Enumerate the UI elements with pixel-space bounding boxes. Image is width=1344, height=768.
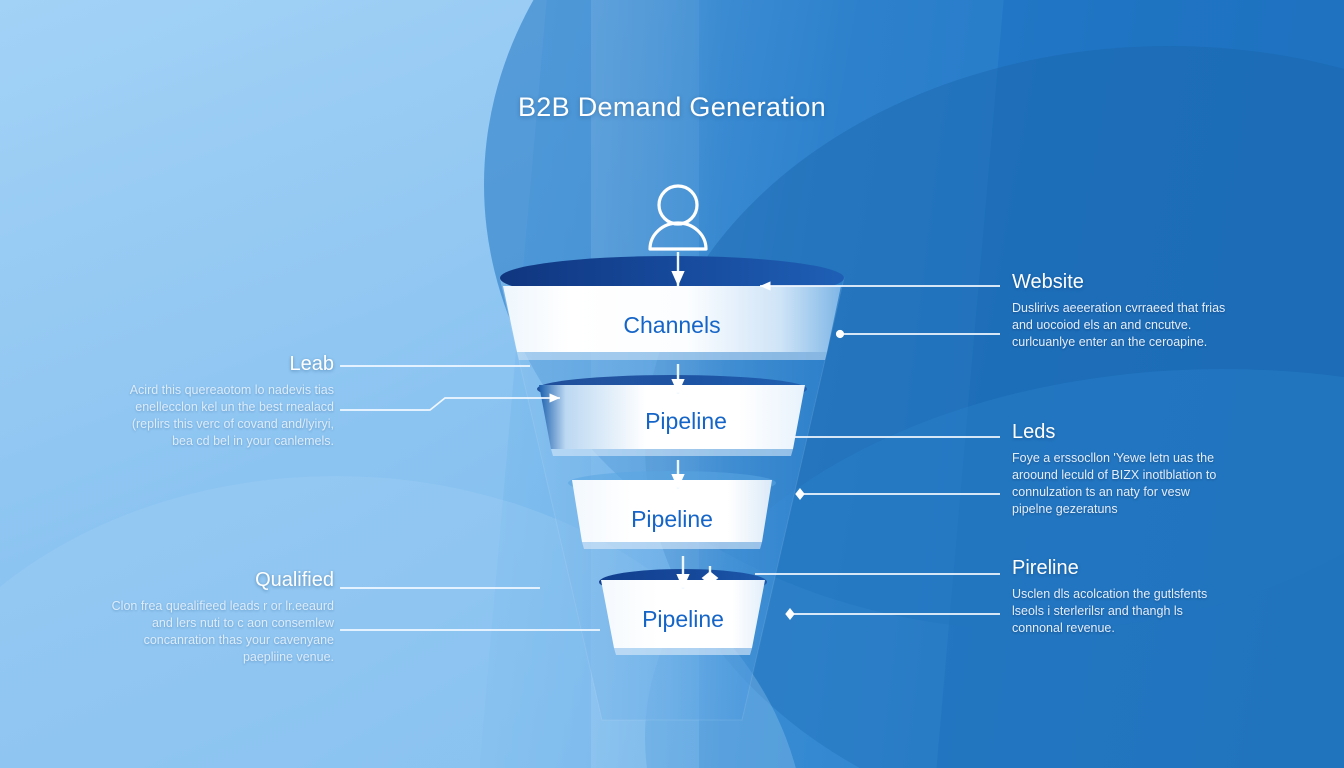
annotation-line: pipelne gezeratuns [1012, 501, 1262, 518]
annotation-line: connonal revenue. [1012, 620, 1262, 637]
annotation-line: Clon frea quealifieed leads r or lr.eeau… [72, 598, 334, 615]
annotation-leab-body: Acird this quereaotom lo nadevis tias en… [78, 382, 334, 450]
annotation-leds-heading: Leds [1012, 420, 1262, 444]
annotation-line: and uocoiod els an and cncutve. [1012, 317, 1262, 334]
annotation-line: concanration thas your cavenyane [72, 632, 334, 649]
funnel-stage-1[interactable]: Channels [503, 286, 841, 360]
annotation-line: Acird this quereaotom lo nadevis tias [78, 382, 334, 399]
annotation-line: paepliine venue. [72, 649, 334, 666]
annotation-website-heading: Website [1012, 270, 1262, 294]
annotation-leds[interactable]: Leds Foye a erssocllon 'Yewe letn uas th… [1012, 420, 1262, 518]
annotation-qualified-body: Clon frea quealifieed leads r or lr.eeau… [72, 598, 334, 666]
funnel-stage-1-label: Channels [623, 312, 720, 338]
annotation-line: enellecclon kel un the best rnealacd [78, 399, 334, 416]
annotation-pireline-body: Usclen dls acolcation the gutlsfents lse… [1012, 586, 1262, 637]
annotation-leds-body: Foye a erssocllon 'Yewe letn uas the aro… [1012, 450, 1262, 518]
annotation-line: Duslirivs aeeeration cvrraeed that frias [1012, 300, 1262, 317]
annotation-leab[interactable]: Leab Acird this quereaotom lo nadevis ti… [78, 352, 334, 450]
funnel-stage-3[interactable]: Pipeline [568, 471, 776, 549]
annotation-leab-heading: Leab [78, 352, 334, 376]
annotation-qualified[interactable]: Qualified Clon frea quealifieed leads r … [72, 568, 334, 666]
annotation-line: Foye a erssocllon 'Yewe letn uas the [1012, 450, 1262, 467]
funnel-stage-4-label: Pipeline [642, 606, 724, 632]
annotation-website-body: Duslirivs aeeeration cvrraeed that frias… [1012, 300, 1262, 351]
annotation-pireline-heading: Pireline [1012, 556, 1262, 580]
person-icon [650, 186, 706, 249]
annotation-line: curlcuanlye enter an the ceroapine. [1012, 334, 1262, 351]
infographic-canvas: B2B Demand Generation [0, 0, 1344, 768]
annotation-line: (replirs this verc of covand and/lyiryi, [78, 416, 334, 433]
connector-leab-body [340, 398, 560, 410]
annotation-line: and lers nuti to c aon consemlew [72, 615, 334, 632]
annotation-line: bea cd bel in your canlemels. [78, 433, 334, 450]
annotation-line: aroound leculd of BIZX inotlblation to [1012, 467, 1262, 484]
funnel-stage-2-label: Pipeline [645, 408, 727, 434]
annotation-qualified-heading: Qualified [72, 568, 334, 592]
annotation-pireline[interactable]: Pireline Usclen dls acolcation the gutls… [1012, 556, 1262, 637]
annotation-line: connulzation ts an naty for vesw [1012, 484, 1262, 501]
funnel-stage-3-label: Pipeline [631, 506, 713, 532]
annotation-line: Usclen dls acolcation the gutlsfents [1012, 586, 1262, 603]
funnel-stage-2[interactable]: Pipeline [537, 375, 807, 456]
annotation-line: lseols i sterlerilsr and thangh ls [1012, 603, 1262, 620]
annotation-website[interactable]: Website Duslirivs aeeeration cvrraeed th… [1012, 270, 1262, 351]
